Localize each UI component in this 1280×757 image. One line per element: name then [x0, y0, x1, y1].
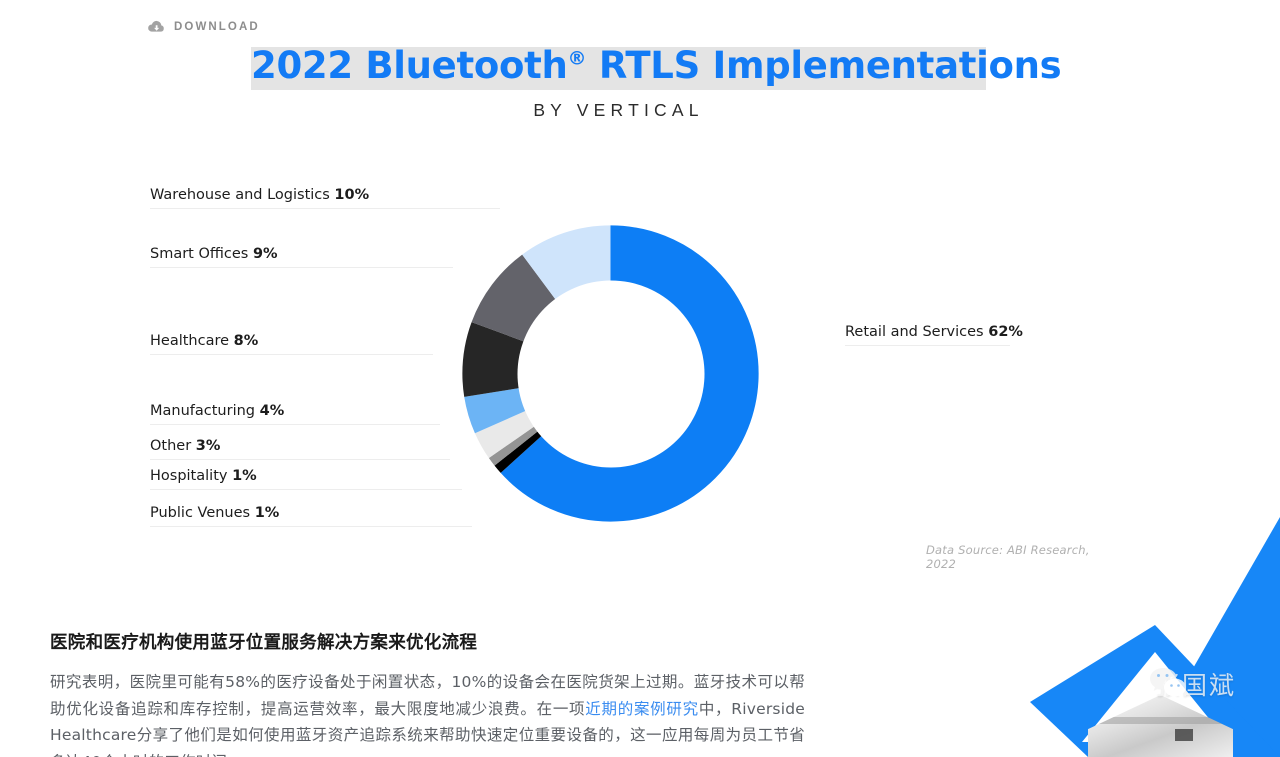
donut-chart — [413, 176, 808, 571]
leader-line — [150, 354, 433, 355]
article-heading: 医院和医疗机构使用蓝牙位置服务解决方案来优化流程 — [50, 631, 805, 655]
legend-name: Public Venues — [150, 505, 250, 521]
article: 医院和医疗机构使用蓝牙位置服务解决方案来优化流程 研究表明，医院里可能有58%的… — [50, 631, 805, 757]
legend-item-smart-offices[interactable]: Smart Offices 9% — [150, 246, 453, 268]
legend-name: Hospitality — [150, 468, 227, 484]
leader-line — [845, 345, 1010, 346]
legend-name: Other — [150, 438, 191, 454]
legend-value: 3% — [196, 438, 221, 454]
legend-name: Warehouse and Logistics — [150, 187, 330, 203]
legend-value: 4% — [260, 403, 285, 419]
legend-label: Smart Offices 9% — [150, 246, 453, 262]
registered-mark-icon: ® — [568, 48, 587, 70]
chart-legend-right[interactable]: Retail and Services 62% — [845, 324, 1023, 346]
leader-line — [150, 424, 440, 425]
legend-label: Other 3% — [150, 438, 450, 454]
watermark: 张国斌 — [1148, 666, 1236, 702]
legend-value: 62% — [988, 324, 1023, 340]
legend-name: Manufacturing — [150, 403, 255, 419]
leader-line — [150, 459, 450, 460]
legend-value: 1% — [232, 468, 257, 484]
legend-name: Healthcare — [150, 333, 229, 349]
legend-name: Smart Offices — [150, 246, 248, 262]
legend-value: 8% — [234, 333, 259, 349]
legend-item-manufacturing[interactable]: Manufacturing 4% — [150, 403, 440, 425]
legend-label: Healthcare 8% — [150, 333, 433, 349]
infographic: 2022 Bluetooth® RTLS Implementations BY … — [0, 0, 1110, 600]
legend-value: 9% — [253, 246, 278, 262]
title-suffix: RTLS Implementations — [586, 44, 1061, 87]
case-study-link[interactable]: 近期的案例研究 — [585, 700, 699, 718]
leader-line — [150, 267, 453, 268]
legend-item-healthcare[interactable]: Healthcare 8% — [150, 333, 433, 355]
legend-label: Manufacturing 4% — [150, 403, 440, 419]
decorative-graphic: 张国斌 — [1030, 497, 1280, 757]
legend-name: Retail and Services — [845, 324, 984, 340]
donut-center-hole — [517, 280, 704, 467]
photo-detail — [1175, 729, 1193, 741]
legend-label: Retail and Services 62% — [845, 324, 1023, 340]
title-prefix: 2022 Bluetooth — [251, 44, 568, 87]
legend-value: 10% — [334, 187, 369, 203]
page-root: DOWNLOAD 2022 Bluetooth® RTLS Implementa… — [0, 0, 1280, 757]
article-body: 研究表明，医院里可能有58%的医疗设备处于闲置状态，10%的设备会在医院货架上过… — [50, 669, 805, 757]
infographic-title: 2022 Bluetooth® RTLS Implementations — [251, 44, 986, 88]
legend-item-other[interactable]: Other 3% — [150, 438, 450, 460]
infographic-subtitle: BY VERTICAL — [251, 100, 986, 121]
legend-value: 1% — [255, 505, 280, 521]
